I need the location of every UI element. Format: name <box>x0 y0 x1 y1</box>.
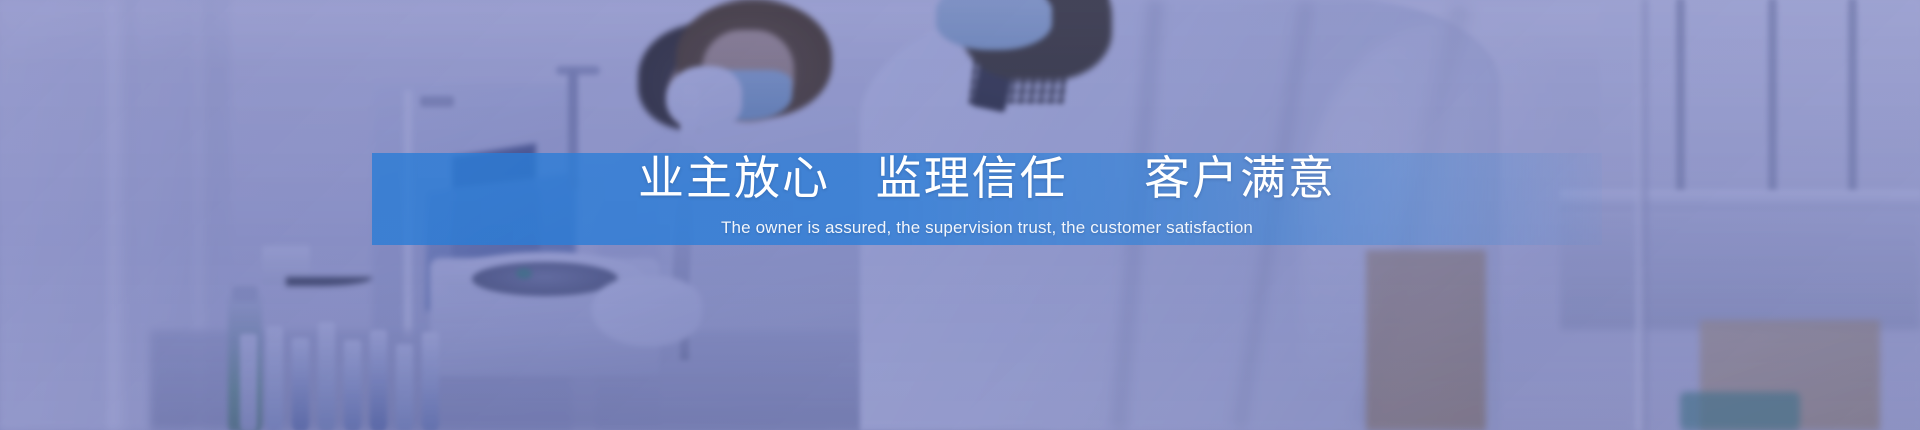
banner-copy: 业主放心 监理信任 客户满意 The owner is assured, the… <box>372 140 1602 270</box>
headline-part-1: 业主放心 <box>638 152 830 204</box>
banner-headline: 业主放心 监理信任 客户满意 <box>638 152 1336 205</box>
headline-part-2: 监理信任 <box>876 152 1068 204</box>
hero-banner: 业主放心 监理信任 客户满意 The owner is assured, the… <box>0 0 1920 430</box>
headline-part-3: 客户满意 <box>1144 152 1336 204</box>
banner-subtitle: The owner is assured, the supervision tr… <box>721 217 1253 239</box>
